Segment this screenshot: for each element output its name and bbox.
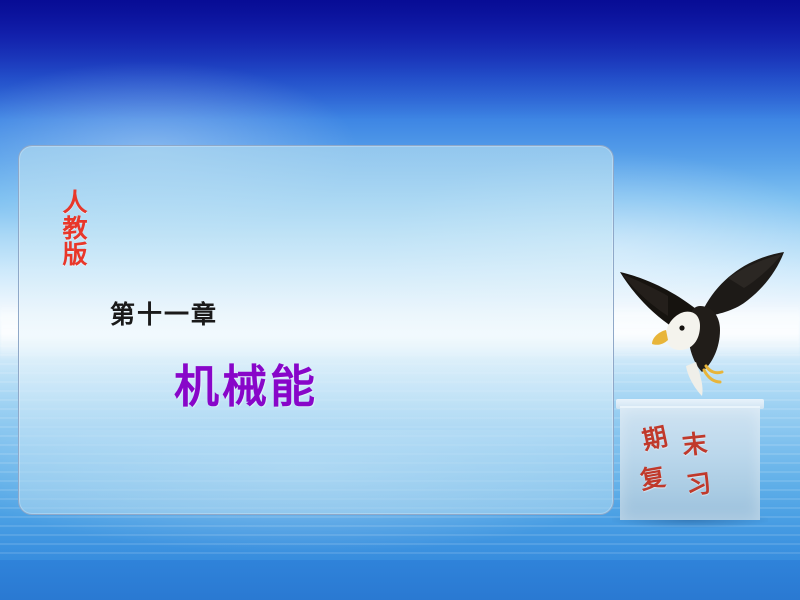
content-frame — [18, 145, 614, 515]
page-title: 机械能 — [174, 350, 318, 415]
badge-char-1: 期 — [639, 417, 671, 457]
publisher-label: 人教版 — [52, 190, 98, 268]
eagle-icon — [608, 238, 798, 408]
badge-char-4: 习 — [684, 463, 714, 502]
badge-char-3: 复 — [637, 457, 668, 497]
presentation-slide: 期 末 复 习 人教版 第十一章 机械能 — [0, 0, 800, 600]
badge-char-2: 末 — [680, 424, 709, 462]
chapter-label: 第十一章 — [110, 295, 218, 331]
bottom-band — [0, 560, 800, 600]
review-badge: 期 末 复 习 — [634, 415, 742, 507]
